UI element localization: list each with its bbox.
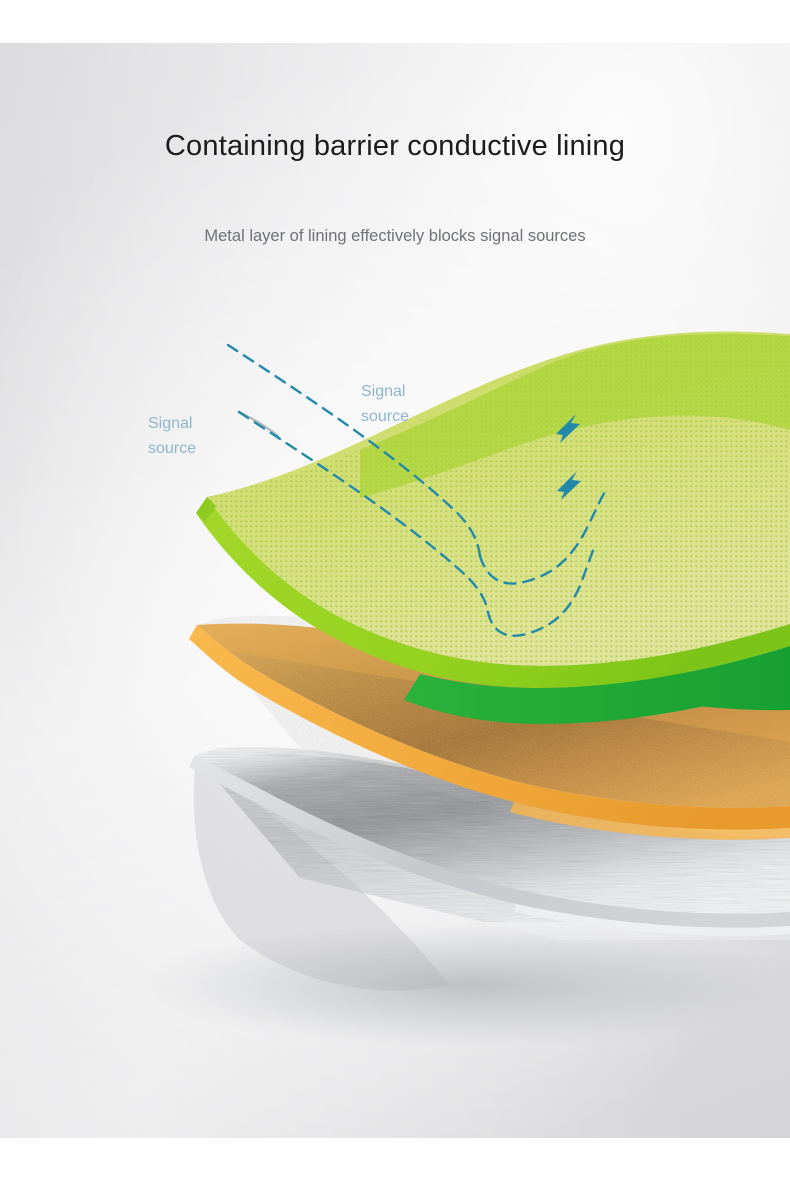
callout-signal-source-left: Signal source	[148, 412, 196, 462]
top-white-margin	[0, 0, 790, 43]
bottom-white-margin	[0, 1138, 790, 1189]
page-subtitle: Metal layer of lining effectively blocks…	[0, 227, 790, 246]
page-title: Containing barrier conductive lining	[0, 130, 790, 163]
layer-stack-illustration	[0, 0, 790, 1189]
callout-signal-source-right: Signal source	[361, 380, 409, 430]
illustration-page: Containing barrier conductive lining Met…	[0, 0, 790, 1189]
